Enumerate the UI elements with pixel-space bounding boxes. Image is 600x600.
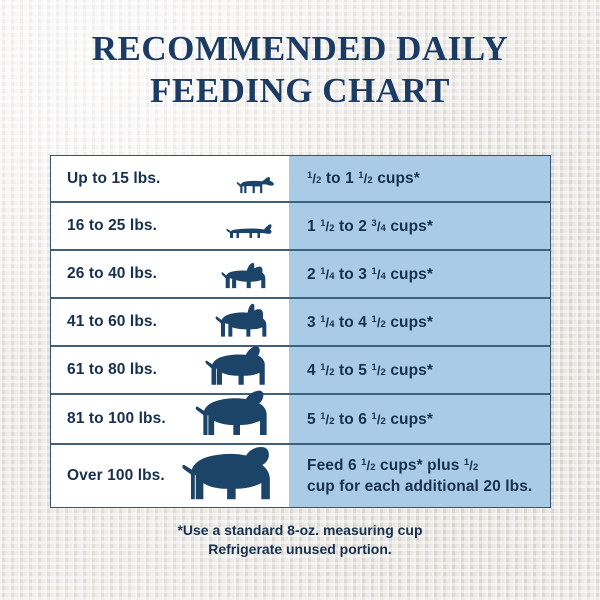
dachshund-dog-icon [223,216,279,246]
amount-line-2: cup for each additional 20 lbs. [307,478,532,495]
footnote-line-1: *Use a standard 8-oz. measuring cup [0,521,600,540]
table-row: 26 to 40 lbs.2 1/4 to 3 1/4 cups* [51,251,550,299]
amount-line-1: 3 1/4 to 4 1/2 cups* [307,314,433,331]
amount-label: 1/2 to 1 1/2 cups* [307,168,420,189]
small-terrier-dog-icon [235,171,279,198]
amount-line-1: Feed 6 1/2 cups* plus 1/2 [307,457,478,474]
amount-label: 3 1/4 to 4 1/2 cups* [307,312,433,333]
rottweiler-dog-icon [201,345,279,390]
amount-line-1: 2 1/4 to 3 1/4 cups* [307,266,433,283]
amount-cell: 4 1/2 to 5 1/2 cups* [289,347,550,393]
title-line-2: FEEDING CHART [0,70,600,112]
weight-cell: 26 to 40 lbs. [51,251,289,297]
table-row: 16 to 25 lbs.1 1/2 to 2 3/4 cups* [51,203,550,251]
boxer-dog-icon [211,302,279,342]
amount-cell: 3 1/4 to 4 1/2 cups* [289,299,550,345]
amount-line-1: 5 1/2 to 6 1/2 cups* [307,411,433,428]
amount-cell: 1 1/2 to 2 3/4 cups* [289,203,550,249]
weight-cell: Up to 15 lbs. [51,156,289,201]
title-line-1: RECOMMENDED DAILY [0,28,600,70]
amount-label: 2 1/4 to 3 1/4 cups* [307,264,433,285]
amount-cell: 2 1/4 to 3 1/4 cups* [289,251,550,297]
weight-cell: Over 100 lbs. [51,445,289,507]
bullmastiff-dog-icon [191,390,279,440]
weight-label: 61 to 80 lbs. [67,361,157,379]
mastiff-dog-icon [179,447,279,504]
weight-cell: 16 to 25 lbs. [51,203,289,249]
amount-label: 1 1/2 to 2 3/4 cups* [307,216,433,237]
table-row: 41 to 60 lbs.3 1/4 to 4 1/2 cups* [51,299,550,347]
weight-cell: 41 to 60 lbs. [51,299,289,345]
amount-label: 5 1/2 to 6 1/2 cups* [307,409,433,430]
weight-label: Over 100 lbs. [67,467,165,485]
page-title: RECOMMENDED DAILY FEEDING CHART [0,28,600,112]
table-row: 61 to 80 lbs.4 1/2 to 5 1/2 cups* [51,347,550,395]
weight-label: 81 to 100 lbs. [67,410,166,428]
french-bulldog-icon [219,259,279,294]
weight-label: Up to 15 lbs. [67,170,160,188]
amount-label: 4 1/2 to 5 1/2 cups* [307,360,433,381]
amount-line-1: 1/2 to 1 1/2 cups* [307,170,420,187]
amount-line-1: 1 1/2 to 2 3/4 cups* [307,218,433,235]
table-row: Over 100 lbs.Feed 6 1/2 cups* plus 1/2cu… [51,445,550,507]
weight-cell: 81 to 100 lbs. [51,395,289,443]
amount-line-1: 4 1/2 to 5 1/2 cups* [307,362,433,379]
feeding-chart-table: Up to 15 lbs.1/2 to 1 1/2 cups*16 to 25 … [50,155,551,508]
weight-label: 16 to 25 lbs. [67,217,157,235]
footnote-line-2: Refrigerate unused portion. [0,540,600,559]
table-row: 81 to 100 lbs.5 1/2 to 6 1/2 cups* [51,395,550,445]
amount-cell: 1/2 to 1 1/2 cups* [289,156,550,201]
weight-label: 41 to 60 lbs. [67,313,157,331]
footnote: *Use a standard 8-oz. measuring cup Refr… [0,521,600,559]
amount-cell: 5 1/2 to 6 1/2 cups* [289,395,550,443]
feeding-chart-page: RECOMMENDED DAILY FEEDING CHART Up to 15… [0,0,600,600]
table-row: Up to 15 lbs.1/2 to 1 1/2 cups* [51,156,550,203]
amount-cell: Feed 6 1/2 cups* plus 1/2cup for each ad… [289,445,550,507]
weight-cell: 61 to 80 lbs. [51,347,289,393]
weight-label: 26 to 40 lbs. [67,265,157,283]
amount-label: Feed 6 1/2 cups* plus 1/2cup for each ad… [307,455,532,497]
